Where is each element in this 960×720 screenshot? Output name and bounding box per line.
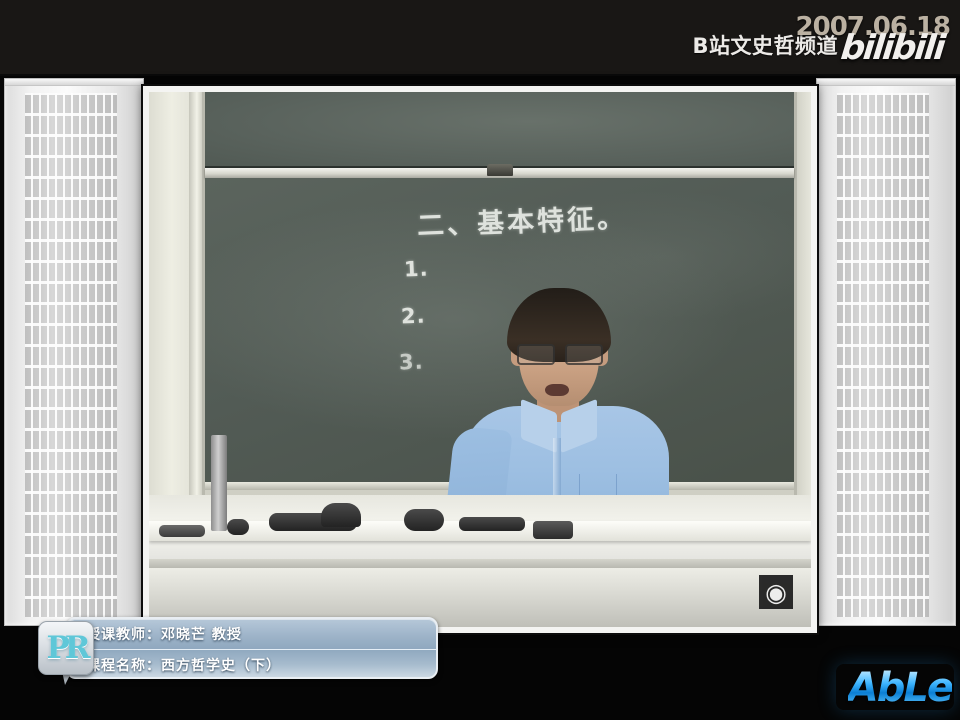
- desk-object-5: [404, 509, 444, 531]
- lecturer-mouth: [545, 384, 569, 396]
- desk-object-2: [227, 519, 249, 535]
- grille-panel-left: [4, 78, 144, 626]
- desk-object-4: [321, 503, 361, 527]
- lecture-info-caption: 授课教师：邓晓芒 教授 课程名称：西方哲学史（下） PR: [38, 617, 438, 679]
- course-text: 课程名称：西方哲学史（下）: [86, 655, 281, 675]
- glasses-icon: [515, 344, 605, 362]
- grille-mesh-right: [837, 93, 929, 617]
- caption-box: 授课教师：邓晓芒 教授 课程名称：西方哲学史（下）: [66, 617, 438, 679]
- chalk-item-2: 2.: [401, 304, 426, 329]
- video-player-stage: B站文史哲频道 2007.06.18 bilibili: [0, 0, 960, 720]
- top-banner: B站文史哲频道 2007.06.18 bilibili: [0, 0, 960, 76]
- desk-object-6: [459, 517, 525, 531]
- producer-logo-text: PR: [46, 633, 85, 664]
- chalk-heading: 二、基本特征。: [416, 196, 627, 243]
- podium-desk: [149, 495, 811, 627]
- instructor-text: 授课教师：邓晓芒 教授: [86, 624, 242, 644]
- desk-object-1: [159, 525, 205, 537]
- panel-top-edge-right: [817, 79, 955, 86]
- video-content: 二、基本特征。 1. 2. 3.: [149, 92, 811, 627]
- blackboard-upper-panel: [205, 92, 794, 168]
- video-frame[interactable]: 二、基本特征。 1. 2. 3.: [143, 86, 817, 633]
- able-watermark: AbLe: [848, 668, 952, 708]
- desk-object-7: [533, 521, 573, 539]
- desk-edge-lip: [149, 559, 811, 568]
- chalk-item-3: 3.: [399, 350, 424, 375]
- bilibili-logo: bilibili: [839, 28, 946, 68]
- caption-row-course: 课程名称：西方哲学史（下）: [68, 649, 436, 679]
- broadcaster-watermark-icon: ◉: [759, 575, 793, 609]
- producer-logo-badge: PR: [38, 621, 94, 675]
- caption-row-instructor: 授课教师：邓晓芒 教授: [68, 619, 436, 649]
- chalk-item-1: 1.: [404, 257, 429, 282]
- desk-support-pole: [211, 435, 227, 531]
- blackboard-rail-clip: [487, 164, 513, 176]
- grille-panel-right: [816, 78, 956, 626]
- grille-mesh-left: [25, 93, 117, 617]
- panel-top-edge-left: [5, 79, 143, 86]
